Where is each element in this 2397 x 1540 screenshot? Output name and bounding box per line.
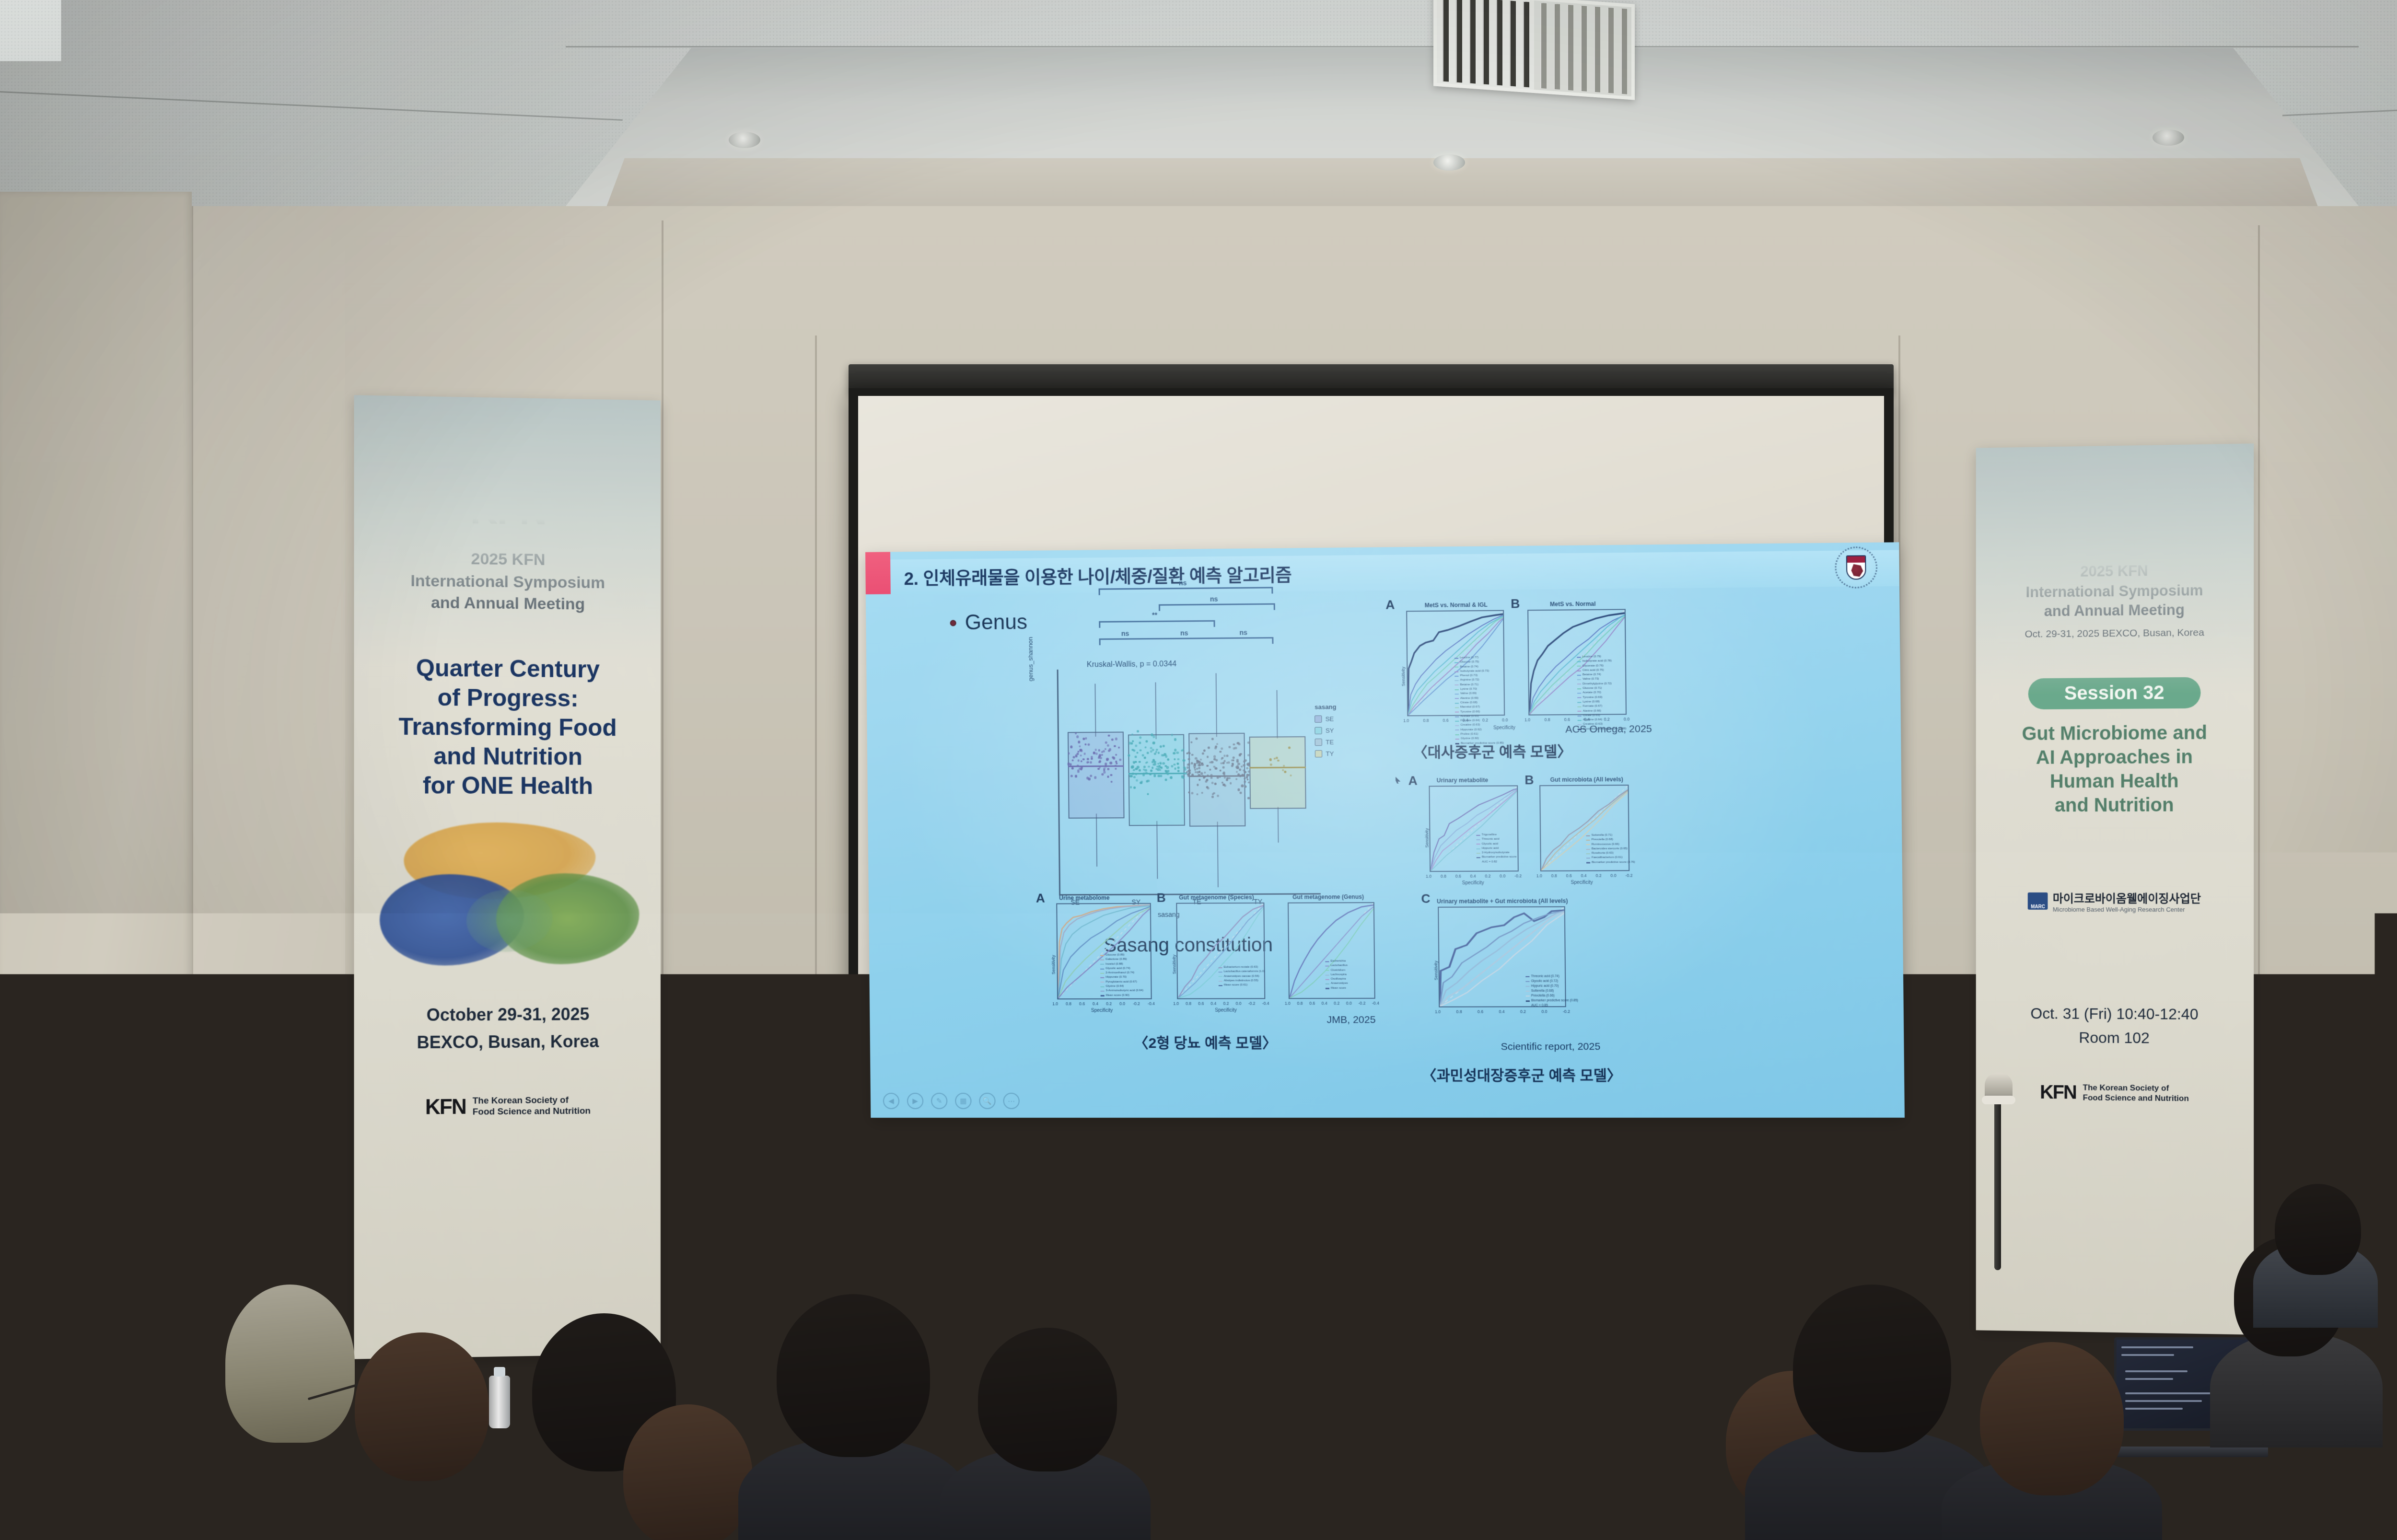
powerpoint-presenter-toolbar[interactable]: ◀ ▶ ✎ ▦ 🔍 ⋯ — [883, 1093, 1020, 1109]
boxplot-point — [1274, 758, 1276, 760]
caption-ibs: 〈과민성대장증후군 예측 모델〉 — [1422, 1063, 1622, 1085]
boxplot-point — [1143, 766, 1146, 768]
boxplot-point — [1213, 758, 1216, 761]
boxplot-point — [1211, 761, 1214, 764]
roc-xticks-t2d-B: 1.00.8 0.60.4 0.20.0 -0.2-0.4 — [1173, 1001, 1269, 1006]
boxplot-point — [1080, 749, 1082, 751]
roc-title: MetS vs. Normal & IGL — [1425, 602, 1488, 609]
roc-title: Gut metagenome (Genus) — [1292, 893, 1364, 901]
boxplot-point — [1158, 752, 1160, 754]
kfn-logo-small: KFN — [2040, 1082, 2076, 1103]
sponsor-korean: 마이크로바이옴웰에이징사업단 — [2053, 889, 2201, 906]
boxplot-point — [1078, 759, 1080, 762]
boxplot-point — [1233, 748, 1235, 750]
boxplot-point — [1226, 762, 1228, 764]
boxplot-point — [1151, 761, 1153, 763]
banner-left-location: BEXCO, Busan, Korea — [354, 1030, 660, 1054]
banner-left-theme2: of Progress: — [354, 683, 660, 714]
audience-head — [1980, 1342, 2124, 1495]
boxplot-point — [1197, 784, 1198, 786]
boxplot-point — [1201, 762, 1203, 764]
boxplot-point — [1107, 744, 1109, 746]
boxplot-point — [1107, 776, 1109, 777]
audience-head — [355, 1332, 489, 1481]
boxplot-point — [1188, 791, 1190, 793]
boxplot-point — [1247, 770, 1250, 773]
boxplot-point — [1094, 776, 1097, 779]
legend-swatch — [1315, 727, 1322, 734]
roc-title: Urinary metabolite — [1437, 777, 1489, 784]
citation-mets: ACS Omega, 2025 — [1565, 723, 1652, 735]
boxplot-point — [1145, 740, 1148, 742]
boxplot-point — [1107, 768, 1110, 770]
boxplot-point — [1147, 793, 1149, 795]
roc-xticks-t2d-A: 1.00.8 0.60.4 0.20.0 -0.2-0.4 — [1052, 1001, 1155, 1006]
boxplot-point — [1111, 739, 1113, 741]
boxplot-point — [1135, 761, 1137, 763]
boxplot-point — [1093, 752, 1095, 754]
roc-xticks-B: 1.00.8 0.60.4 0.20.0 — [1524, 717, 1629, 722]
boxplot-point — [1191, 774, 1194, 776]
boxplot-point — [1146, 752, 1149, 754]
boxplot-point — [1247, 754, 1250, 756]
boxplot-point — [1112, 756, 1114, 759]
boxplot-point — [1174, 749, 1177, 752]
boxplot-point — [1223, 776, 1226, 779]
boxplot-point — [1139, 736, 1141, 739]
boxplot-point — [1237, 742, 1240, 745]
boxplot-point — [1219, 776, 1221, 777]
boxplot-point — [1076, 735, 1079, 738]
roc-title: Urine metabolome — [1059, 894, 1110, 901]
legend-swatch — [1315, 739, 1322, 746]
legend-swatch — [1315, 716, 1322, 723]
boxplot-point — [1148, 765, 1150, 767]
chart-group-ibs-ab: A Urinary metabolite Sensitivity Trigone… — [1408, 774, 1625, 892]
boxplot-point — [1158, 767, 1160, 769]
boxplot-point — [1133, 787, 1136, 789]
bullet-dot-icon — [950, 620, 956, 626]
boxplot-point — [1240, 792, 1242, 794]
roc-y-label: Sensitivity — [1401, 667, 1406, 686]
sig-label: ns — [1239, 628, 1247, 636]
boxplot-point — [1203, 750, 1206, 752]
boxplot-point — [1144, 756, 1146, 759]
roc-xticks-A: 1.00.8 0.60.4 0.20.0 — [1403, 718, 1508, 723]
floor-microphone-stand — [1994, 1098, 2001, 1270]
marc-logo-icon: MARC — [2028, 892, 2048, 910]
boxplot-point — [1143, 768, 1145, 770]
roc-y-label: Sensitivity — [1424, 828, 1430, 848]
boxplot-point — [1080, 760, 1082, 762]
mouse-cursor-icon — [1396, 777, 1400, 784]
boxplot-point — [1071, 775, 1073, 777]
projection-screen-weight-bar — [844, 1184, 1898, 1203]
sponsor-english: Microbiome Based Well-Aging Research Cen… — [2053, 906, 2201, 913]
boxplot-point — [1080, 754, 1082, 756]
legend-label: SY — [1326, 727, 1334, 734]
roc-title: Gut metagenome (Species) — [1179, 894, 1254, 901]
boxplot-point — [1209, 768, 1211, 770]
boxplot-point — [1068, 752, 1070, 754]
boxplot-point — [1135, 767, 1137, 770]
sponsor-logo-marc: MARC 마이크로바이옴웰에이징사업단 Microbiome Based Wel… — [1976, 889, 2254, 913]
panel-label-A: A — [1036, 891, 1045, 906]
audience-head — [777, 1294, 930, 1457]
hvac-vent-icon — [1433, 0, 1635, 100]
boxplot-point — [1164, 753, 1166, 756]
caption-mets: 〈대사증후군 예측 모델〉 — [1413, 740, 1572, 762]
boxplot-point — [1071, 759, 1073, 761]
roc-legend-A: Leucine (0.77) Glucose (0.75) Betaine (0… — [1454, 656, 1504, 746]
panel-label-C: C — [1421, 891, 1430, 906]
boxplot-point — [1153, 763, 1156, 766]
kfn-logo-small: KFN — [425, 1095, 466, 1119]
boxplot-point — [1139, 769, 1141, 772]
banner-left-theme3: Transforming Food — [354, 712, 660, 742]
banner-left-theme4: and Nutrition — [354, 741, 660, 772]
downlight-icon — [2153, 129, 2184, 146]
boxplot-point — [1105, 764, 1107, 767]
legend-title: sasang — [1315, 703, 1337, 710]
audience-head — [1793, 1285, 1951, 1452]
boxplot-point — [1115, 767, 1117, 769]
boxplot-point — [1197, 771, 1199, 774]
boxplot-point — [1228, 746, 1231, 748]
citation-t2d: JMB, 2025 — [1326, 1014, 1375, 1026]
boxplot-point — [1244, 778, 1245, 780]
chart-group-t2d: A Urine metabolome Sensitivity Glucose (… — [1036, 892, 1377, 1037]
boxplot-point — [1222, 772, 1224, 774]
roc-x-label: Specificity — [1571, 880, 1593, 885]
boxplot-point — [1188, 758, 1190, 760]
chart-group-ibs-c: C Urinary metabolite + Gut microbiota (A… — [1421, 892, 1628, 1033]
boxplot-point — [1095, 753, 1098, 755]
boxplot-point — [1171, 734, 1173, 736]
banner-left-theme5: for ONE Health — [354, 771, 660, 801]
roc-xticks-t2d-genus: 1.00.8 0.60.4 0.20.0 -0.2-0.4 — [1285, 1001, 1379, 1006]
boxplot-point — [1221, 747, 1223, 750]
university-crest-icon — [1835, 546, 1878, 589]
kruskal-wallis-label: Kruskal-Wallis, p = 0.0344 — [1087, 660, 1177, 670]
boxplot-point — [1202, 753, 1204, 755]
boxplot-point — [1109, 748, 1111, 751]
boxplot-point — [1201, 792, 1203, 794]
boxplot-point — [1216, 776, 1219, 778]
session-room: Room 102 — [1976, 1027, 2254, 1049]
boxplot-point — [1204, 772, 1206, 774]
audience-head — [1309, 1246, 1481, 1438]
boxplot-point — [1099, 760, 1101, 763]
boxplot-point — [1166, 766, 1169, 769]
next-icon[interactable]: ▶ — [907, 1093, 923, 1109]
citation-ibs: Scientific report, 2025 — [1501, 1041, 1600, 1053]
boxplot-point — [1198, 766, 1200, 769]
boxplot-point — [1244, 785, 1246, 787]
roc-legend-t2d-B-genus: Escherichia Lactobacillus Clostridium La… — [1325, 959, 1348, 991]
boxplot-point — [1077, 769, 1080, 772]
speaker-glasses-icon — [730, 1144, 792, 1158]
presentation-slide: 2. 인체유래물을 이용한 나이/체중/질환 예측 알고리즘 Genus ns … — [865, 542, 1905, 1118]
boxplot-point — [1085, 737, 1087, 740]
boxplot-point — [1152, 749, 1154, 751]
boxplot-point — [1200, 772, 1203, 775]
boxplot-point — [1191, 754, 1194, 756]
boxplot-point — [1195, 757, 1198, 759]
audience-head-with-cap — [225, 1285, 355, 1443]
boxplot-point — [1153, 775, 1156, 777]
boxplot-point — [1283, 764, 1285, 766]
boxplot-point — [1144, 746, 1146, 748]
roc-y-label: Sensitivity — [1172, 955, 1176, 974]
session-schedule: Oct. 31 (Fri) 10:40-12:40 — [1976, 1004, 2254, 1025]
sig-label: ns — [1180, 629, 1188, 637]
boxplot-point — [1247, 764, 1250, 767]
zoom-icon[interactable]: 🔍 — [979, 1093, 995, 1109]
boxplot-point — [1088, 778, 1091, 781]
legend-swatch — [1315, 750, 1322, 757]
boxplot-point — [1216, 743, 1218, 745]
boxplot-point — [1195, 737, 1198, 740]
boxplot-point — [1228, 777, 1231, 779]
boxplot-point — [1136, 752, 1138, 753]
audience-head — [2275, 1184, 2361, 1275]
chair — [2277, 1457, 2392, 1540]
session-title-line3: Human Health — [1976, 769, 2254, 794]
boxplot-point — [1239, 769, 1241, 771]
boxplot-point — [1239, 775, 1241, 777]
audience-head — [1529, 1304, 1683, 1467]
previous-icon[interactable]: ◀ — [883, 1093, 899, 1109]
boxplot-point — [1244, 771, 1246, 773]
boxplot-point — [1108, 734, 1110, 737]
boxplot-point — [1129, 742, 1131, 745]
audience-head — [978, 1328, 1117, 1471]
chart-boxplot-genus-shannon: ns ns ** ns ns ns Kruskal-Wallis, p = 0.… — [1040, 582, 1334, 931]
boxplot-point — [1071, 767, 1073, 769]
boxplot-point — [1198, 779, 1200, 781]
audience-head — [590, 1304, 686, 1409]
roc-x-label: Specificity — [1493, 725, 1515, 730]
roc-y-label: Sensitivity — [1051, 955, 1056, 974]
boxplot-point — [1208, 747, 1210, 749]
roc-title: Gut microbiota (All levels) — [1550, 776, 1623, 783]
boxplot-point — [1151, 733, 1153, 736]
boxplot-point — [1088, 743, 1090, 746]
boxplot-point — [1246, 767, 1248, 769]
society-line1: The Korean Society of — [473, 1095, 591, 1107]
boxplot-point — [1215, 767, 1218, 769]
chart-group-mets: A MetS vs. Normal & IGL Sensitivity Leuc… — [1385, 597, 1617, 735]
more-icon[interactable]: ⋯ — [1003, 1093, 1019, 1109]
boxplot-point — [1154, 761, 1156, 764]
panel-label-B: B — [1157, 891, 1166, 905]
boxplot-y-axis-label: genus_shannon — [1027, 637, 1035, 682]
boxplot-point — [1139, 742, 1141, 744]
roc-legend-t2d-A: Glucose (0.89) Galactose (0.89) Inositol… — [1100, 953, 1143, 998]
boxplot-point — [1152, 735, 1155, 738]
boxplot-point — [1070, 746, 1073, 749]
boxplot-point — [1187, 774, 1190, 776]
boxplot-point — [1136, 779, 1138, 782]
boxplot-point — [1230, 782, 1232, 784]
roc-legend-ibs-B: Sutterella (0.71) Prevotella (0.68) Rumi… — [1586, 833, 1635, 865]
boxplot-point — [1128, 754, 1130, 756]
boxplot-point — [1115, 738, 1117, 740]
boxplot-point — [1150, 770, 1152, 772]
society-logo-right: KFN The Korean Society of Food Science a… — [1976, 1081, 2254, 1105]
boxplot-point — [1217, 795, 1219, 797]
boxplot-point — [1198, 774, 1201, 776]
boxplot-point — [1144, 769, 1147, 771]
boxplot-point — [1187, 770, 1190, 772]
roc-xticks-ibs-C: 1.00.8 0.60.4 0.20.0 -0.2 — [1435, 1009, 1570, 1014]
downlight-icon — [1433, 154, 1465, 171]
boxplot-point — [1207, 775, 1209, 777]
downlight-icon — [729, 132, 760, 148]
legend-label: SE — [1326, 715, 1334, 722]
roc-xticks-ibs-A: 1.00.8 0.60.4 0.20.0 -0.2 — [1426, 873, 1522, 879]
boxplot-point — [1174, 764, 1175, 765]
legend-label: TE — [1326, 739, 1334, 746]
roc-title: Urinary metabolite + Gut microbiota (All… — [1437, 898, 1568, 905]
boxplot-point — [1137, 730, 1139, 733]
boxplot-point — [1139, 761, 1141, 763]
boxplot-point — [1232, 764, 1233, 765]
boxplot-point — [1110, 774, 1112, 776]
boxplot-point — [1200, 758, 1202, 760]
pen-icon[interactable]: ✎ — [931, 1093, 947, 1109]
boxplot-point — [1159, 762, 1162, 764]
boxplot-point — [1174, 758, 1175, 760]
society-logo-left: KFN The Korean Society of Food Science a… — [354, 1093, 660, 1120]
boxplot-point — [1140, 749, 1141, 751]
boxplot-point — [1276, 757, 1278, 759]
boxplot-point — [1174, 738, 1177, 741]
floor-microphone-ring — [1982, 1096, 2015, 1104]
boxplot-point — [1222, 782, 1223, 784]
boxplot-point — [1222, 766, 1225, 768]
sig-label: ns — [1179, 579, 1187, 587]
boxplot-point — [1228, 761, 1230, 764]
attendee-laptop-light[interactable] — [2387, 1371, 2397, 1486]
boxplot-point — [1160, 745, 1162, 748]
roc-x-label: Specificity — [1091, 1008, 1113, 1013]
boxplot-point — [1140, 782, 1142, 784]
boxplot-point — [1103, 767, 1105, 770]
boxplot-point — [1181, 776, 1184, 778]
boxplot-point — [1131, 766, 1134, 769]
boxplot-point — [1084, 743, 1086, 745]
boxplot-point — [1070, 764, 1072, 766]
boxplot-point — [1176, 763, 1178, 764]
boxplot-point — [1237, 763, 1240, 765]
boxplot-point — [1173, 752, 1175, 754]
boxplot-point — [1241, 785, 1244, 787]
boxplot-point — [1077, 765, 1079, 767]
roc-x-label: Specificity — [1462, 880, 1484, 886]
boxplot-point — [1153, 741, 1155, 744]
boxplot-point — [1193, 765, 1196, 768]
boxplot-point — [1115, 765, 1117, 767]
boxplot-point — [1135, 745, 1137, 747]
boxplot-point — [1145, 762, 1147, 764]
boxplot-point — [1246, 778, 1249, 781]
roc-legend-t2d-B-species: Eubacterium rectale (0.63) Lactobacillus… — [1218, 965, 1265, 988]
boxplot-point — [1244, 781, 1246, 783]
boxplot-point — [1177, 758, 1179, 760]
boxplot-point — [1237, 788, 1240, 791]
banner-right: KFN 2025 KFN International Symposium and… — [1976, 443, 2254, 1334]
boxplot-point — [1115, 761, 1117, 763]
boxplot-point — [1269, 764, 1272, 766]
society-line1: The Korean Society of — [2083, 1083, 2189, 1094]
society-line2: Food Science and Nutrition — [2083, 1093, 2189, 1103]
boxplot-point — [1269, 758, 1272, 761]
boxplot-point — [1073, 756, 1075, 758]
boxplot-point — [1191, 762, 1193, 764]
boxplot-legend: sasang SE SY TE TY — [1315, 703, 1337, 762]
roc-title: MetS vs. Normal — [1550, 601, 1596, 608]
banner-left: KFN 2025 KFN International Symposium and… — [354, 395, 660, 1359]
boxplot-point — [1191, 792, 1193, 794]
boxplot-point — [1109, 762, 1112, 764]
boxplot-point — [1236, 759, 1239, 762]
banner-left-date: October 29-31, 2025 — [354, 1003, 660, 1027]
boxplot-point — [1247, 797, 1250, 799]
boxplot-point — [1137, 766, 1139, 768]
roc-x-label: Specificity — [1215, 1008, 1237, 1013]
boxplot-point — [1247, 781, 1249, 783]
session-title-line1: Gut Microbiome and — [1976, 720, 2254, 746]
boxplot-point — [1162, 762, 1164, 764]
boxplot-point — [1206, 764, 1209, 767]
boxplot-point — [1243, 760, 1245, 763]
boxplot-point — [1177, 770, 1180, 772]
boxplot-point — [1210, 776, 1213, 779]
watercolor-graphic — [376, 822, 640, 981]
sig-label: ns — [1121, 629, 1129, 637]
sig-label: ** — [1152, 611, 1157, 619]
roc-y-label: Sensitivity — [1433, 961, 1439, 980]
boxplot-point — [1164, 778, 1167, 781]
caption-t2d: 〈2형 당뇨 예측 모델〉 — [1134, 1031, 1277, 1053]
boxplot-point — [1277, 759, 1280, 762]
slide-accent-bar — [865, 552, 891, 594]
boxplot-axes — [1057, 668, 1321, 896]
boxplot-point — [1141, 754, 1144, 756]
boxplot-point — [1090, 761, 1092, 763]
session-title-line4: and Nutrition — [1976, 793, 2254, 818]
boxplot-point — [1239, 753, 1241, 756]
panel-label-B: B — [1524, 773, 1534, 787]
boxplot-point — [1152, 767, 1154, 769]
roc-legend-ibs-C: Threonic acid (0.74) Glycolic acid (0.72… — [1525, 974, 1578, 1008]
society-line2: Food Science and Nutrition — [473, 1106, 591, 1118]
boxplot-point — [1187, 766, 1189, 769]
thumbnails-icon[interactable]: ▦ — [955, 1093, 971, 1109]
boxplot-point — [1083, 753, 1086, 755]
roc-legend-ibs-A: Trigonelline Threonic acid Glycolic acid… — [1476, 833, 1516, 864]
boxplot-point — [1190, 741, 1192, 743]
slide-bullet-genus: Genus — [950, 610, 1027, 635]
boxplot-point — [1146, 780, 1148, 783]
boxplot-point — [1098, 749, 1100, 751]
boxplot-point — [1091, 758, 1093, 760]
boxplot-point — [1233, 743, 1235, 745]
boxplot-point — [1177, 767, 1179, 769]
boxplot-point — [1101, 773, 1104, 776]
